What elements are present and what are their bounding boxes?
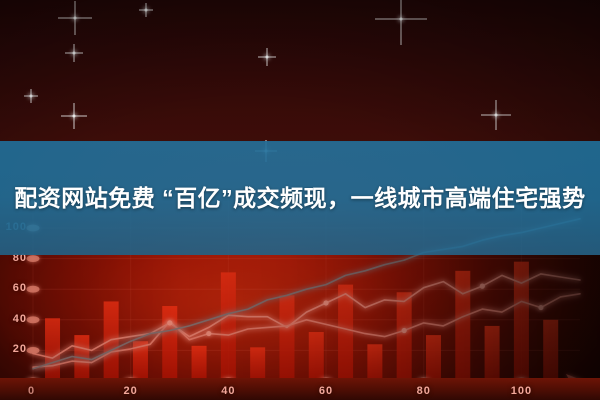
y-tick-60: 60: [1, 282, 27, 294]
y-tick-40: 40: [1, 313, 27, 325]
y-tick-20: 20: [1, 343, 27, 355]
x-tick-100: 100: [509, 385, 533, 397]
origin-tick-0: 0: [28, 385, 35, 397]
x-tick-20: 20: [119, 385, 143, 397]
x-tick-60: 60: [314, 385, 338, 397]
poster-image: 20406080100204060801000 配资网站免费 “百亿”成交频现，…: [0, 0, 600, 400]
x-tick-80: 80: [412, 385, 436, 397]
headline-text: 配资网站免费 “百亿”成交频现，一线城市高端住宅强势: [0, 141, 600, 255]
x-tick-40: 40: [216, 385, 240, 397]
